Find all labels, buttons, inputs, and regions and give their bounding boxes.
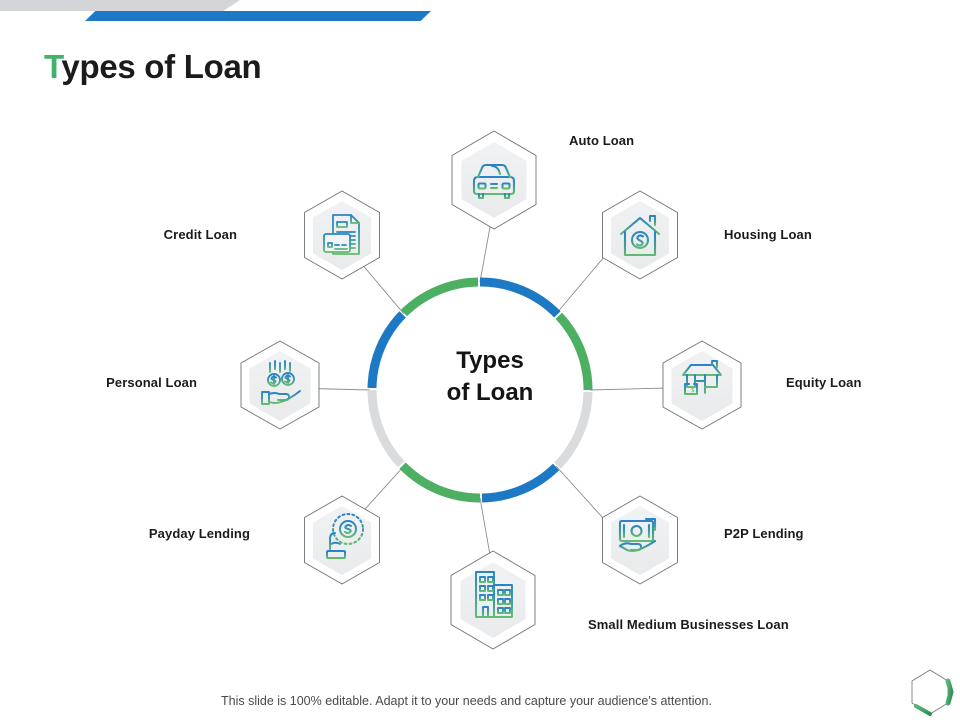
node-label-personal-loan: Personal Loan (106, 375, 197, 390)
ring-segment-7 (372, 314, 403, 388)
node-label-auto-loan: Auto Loan (569, 133, 634, 148)
ring-segment-5 (403, 466, 480, 498)
node-payday-lending[interactable] (305, 496, 380, 584)
node-p2p-lending[interactable] (603, 496, 678, 584)
ring-segment-2 (559, 316, 588, 390)
node-credit-loan[interactable] (305, 191, 380, 279)
ring-segment-6 (372, 390, 401, 464)
connector-housing-loan (556, 250, 610, 314)
ring-segment-8 (404, 282, 478, 313)
ring-segment-4 (482, 467, 556, 498)
node-auto-loan[interactable] (452, 131, 536, 229)
types-of-loan-diagram: $ (0, 0, 960, 720)
node-smb-loan[interactable] (451, 551, 535, 649)
node-label-smb-loan: Small Medium Businesses Loan (588, 617, 789, 632)
svg-text:$: $ (691, 387, 695, 394)
node-label-p2p-lending: P2P Lending (724, 526, 804, 541)
footer-note: This slide is 100% editable. Adapt it to… (221, 694, 712, 708)
node-label-credit-loan: Credit Loan (164, 227, 237, 242)
node-label-equity-loan: Equity Loan (786, 375, 862, 390)
node-equity-loan[interactable]: $ (663, 341, 741, 429)
hexagon-accent-icon (912, 670, 951, 714)
node-personal-loan[interactable] (241, 341, 319, 429)
center-ring (372, 282, 588, 498)
node-housing-loan[interactable] (603, 191, 678, 279)
ring-segment-1 (480, 282, 557, 314)
ring-segment-3 (557, 392, 588, 466)
node-label-payday-lending: Payday Lending (149, 526, 250, 541)
connector-equity-loan (590, 388, 668, 390)
node-label-housing-loan: Housing Loan (724, 227, 812, 242)
